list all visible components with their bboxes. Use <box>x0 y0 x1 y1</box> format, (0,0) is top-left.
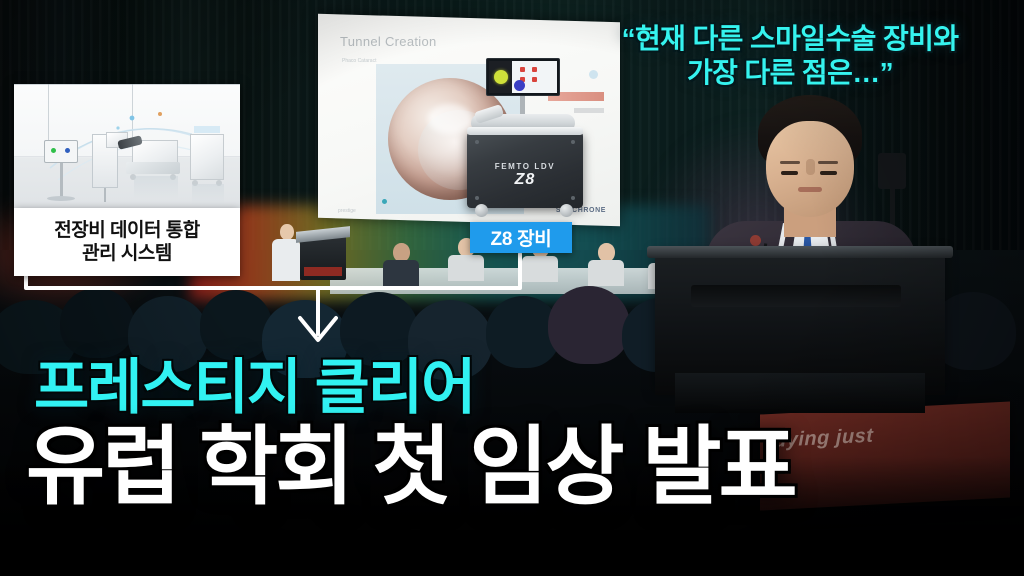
inset-caption: 전장비 데이터 통합 관리 시스템 <box>14 208 240 276</box>
inset-caption-line2: 관리 시스템 <box>82 242 172 265</box>
z8-device-tag: Z8 장비 <box>470 222 572 253</box>
headline-line1: 프레스티지 클리어 <box>0 358 1024 418</box>
thumbnail-canvas: Tunnel Creation Phaco Cataract prestige … <box>0 0 1024 576</box>
slide-footer-note: prestige <box>338 208 356 214</box>
slide-bullet-dot <box>382 199 387 204</box>
slide-subtext: Phaco Cataract <box>342 58 376 66</box>
speaker-quote: “현재 다른 스마일수술 장비와 가장 다른 점은…” <box>560 22 1020 90</box>
device-target-indicator <box>494 70 508 84</box>
speaker-mouth <box>798 187 822 192</box>
panelist <box>588 243 624 286</box>
speaker-nose <box>806 159 815 175</box>
headline-line2: 유럽 학회 첫 임상 발표 <box>0 424 1024 510</box>
audience-head <box>200 290 272 360</box>
inset-caption-line1: 전장비 데이터 통합 <box>54 219 199 242</box>
device-body: FEMTO LDV Z8 <box>467 132 583 208</box>
slide-title: Tunnel Creation <box>340 34 437 49</box>
speaker-quote-line2: 가장 다른 점은…” <box>560 56 1020 90</box>
equipment-room-inset <box>14 84 240 210</box>
inset-device-right <box>190 134 224 180</box>
audience-head <box>60 288 134 358</box>
headline-block: 프레스티지 클리어 유럽 학회 첫 임상 발표 <box>0 358 1024 510</box>
stage-lectern <box>300 236 346 280</box>
podium-panel <box>691 285 901 307</box>
camera-unit <box>878 153 906 189</box>
camera-arm <box>890 187 895 229</box>
audience-head <box>548 286 630 364</box>
microphone-head <box>750 235 761 246</box>
device-blue-dot <box>514 80 525 91</box>
podium-top <box>647 246 953 258</box>
inset-scene <box>14 84 240 210</box>
inset-monitor-stand <box>44 140 78 163</box>
inset-device-main-base <box>126 162 180 174</box>
panelist <box>383 243 419 286</box>
device-brand-text: FEMTO LDV <box>467 162 583 171</box>
device-wheel-left <box>475 204 488 217</box>
device-wheel-right <box>560 204 573 217</box>
device-top-panel <box>467 127 583 135</box>
device-model-text: Z8 <box>467 171 583 189</box>
speaker-quote-line1: “현재 다른 스마일수술 장비와 <box>622 23 959 54</box>
z8-device-tag-label: Z8 장비 <box>491 224 552 251</box>
device-monitor <box>486 58 560 96</box>
